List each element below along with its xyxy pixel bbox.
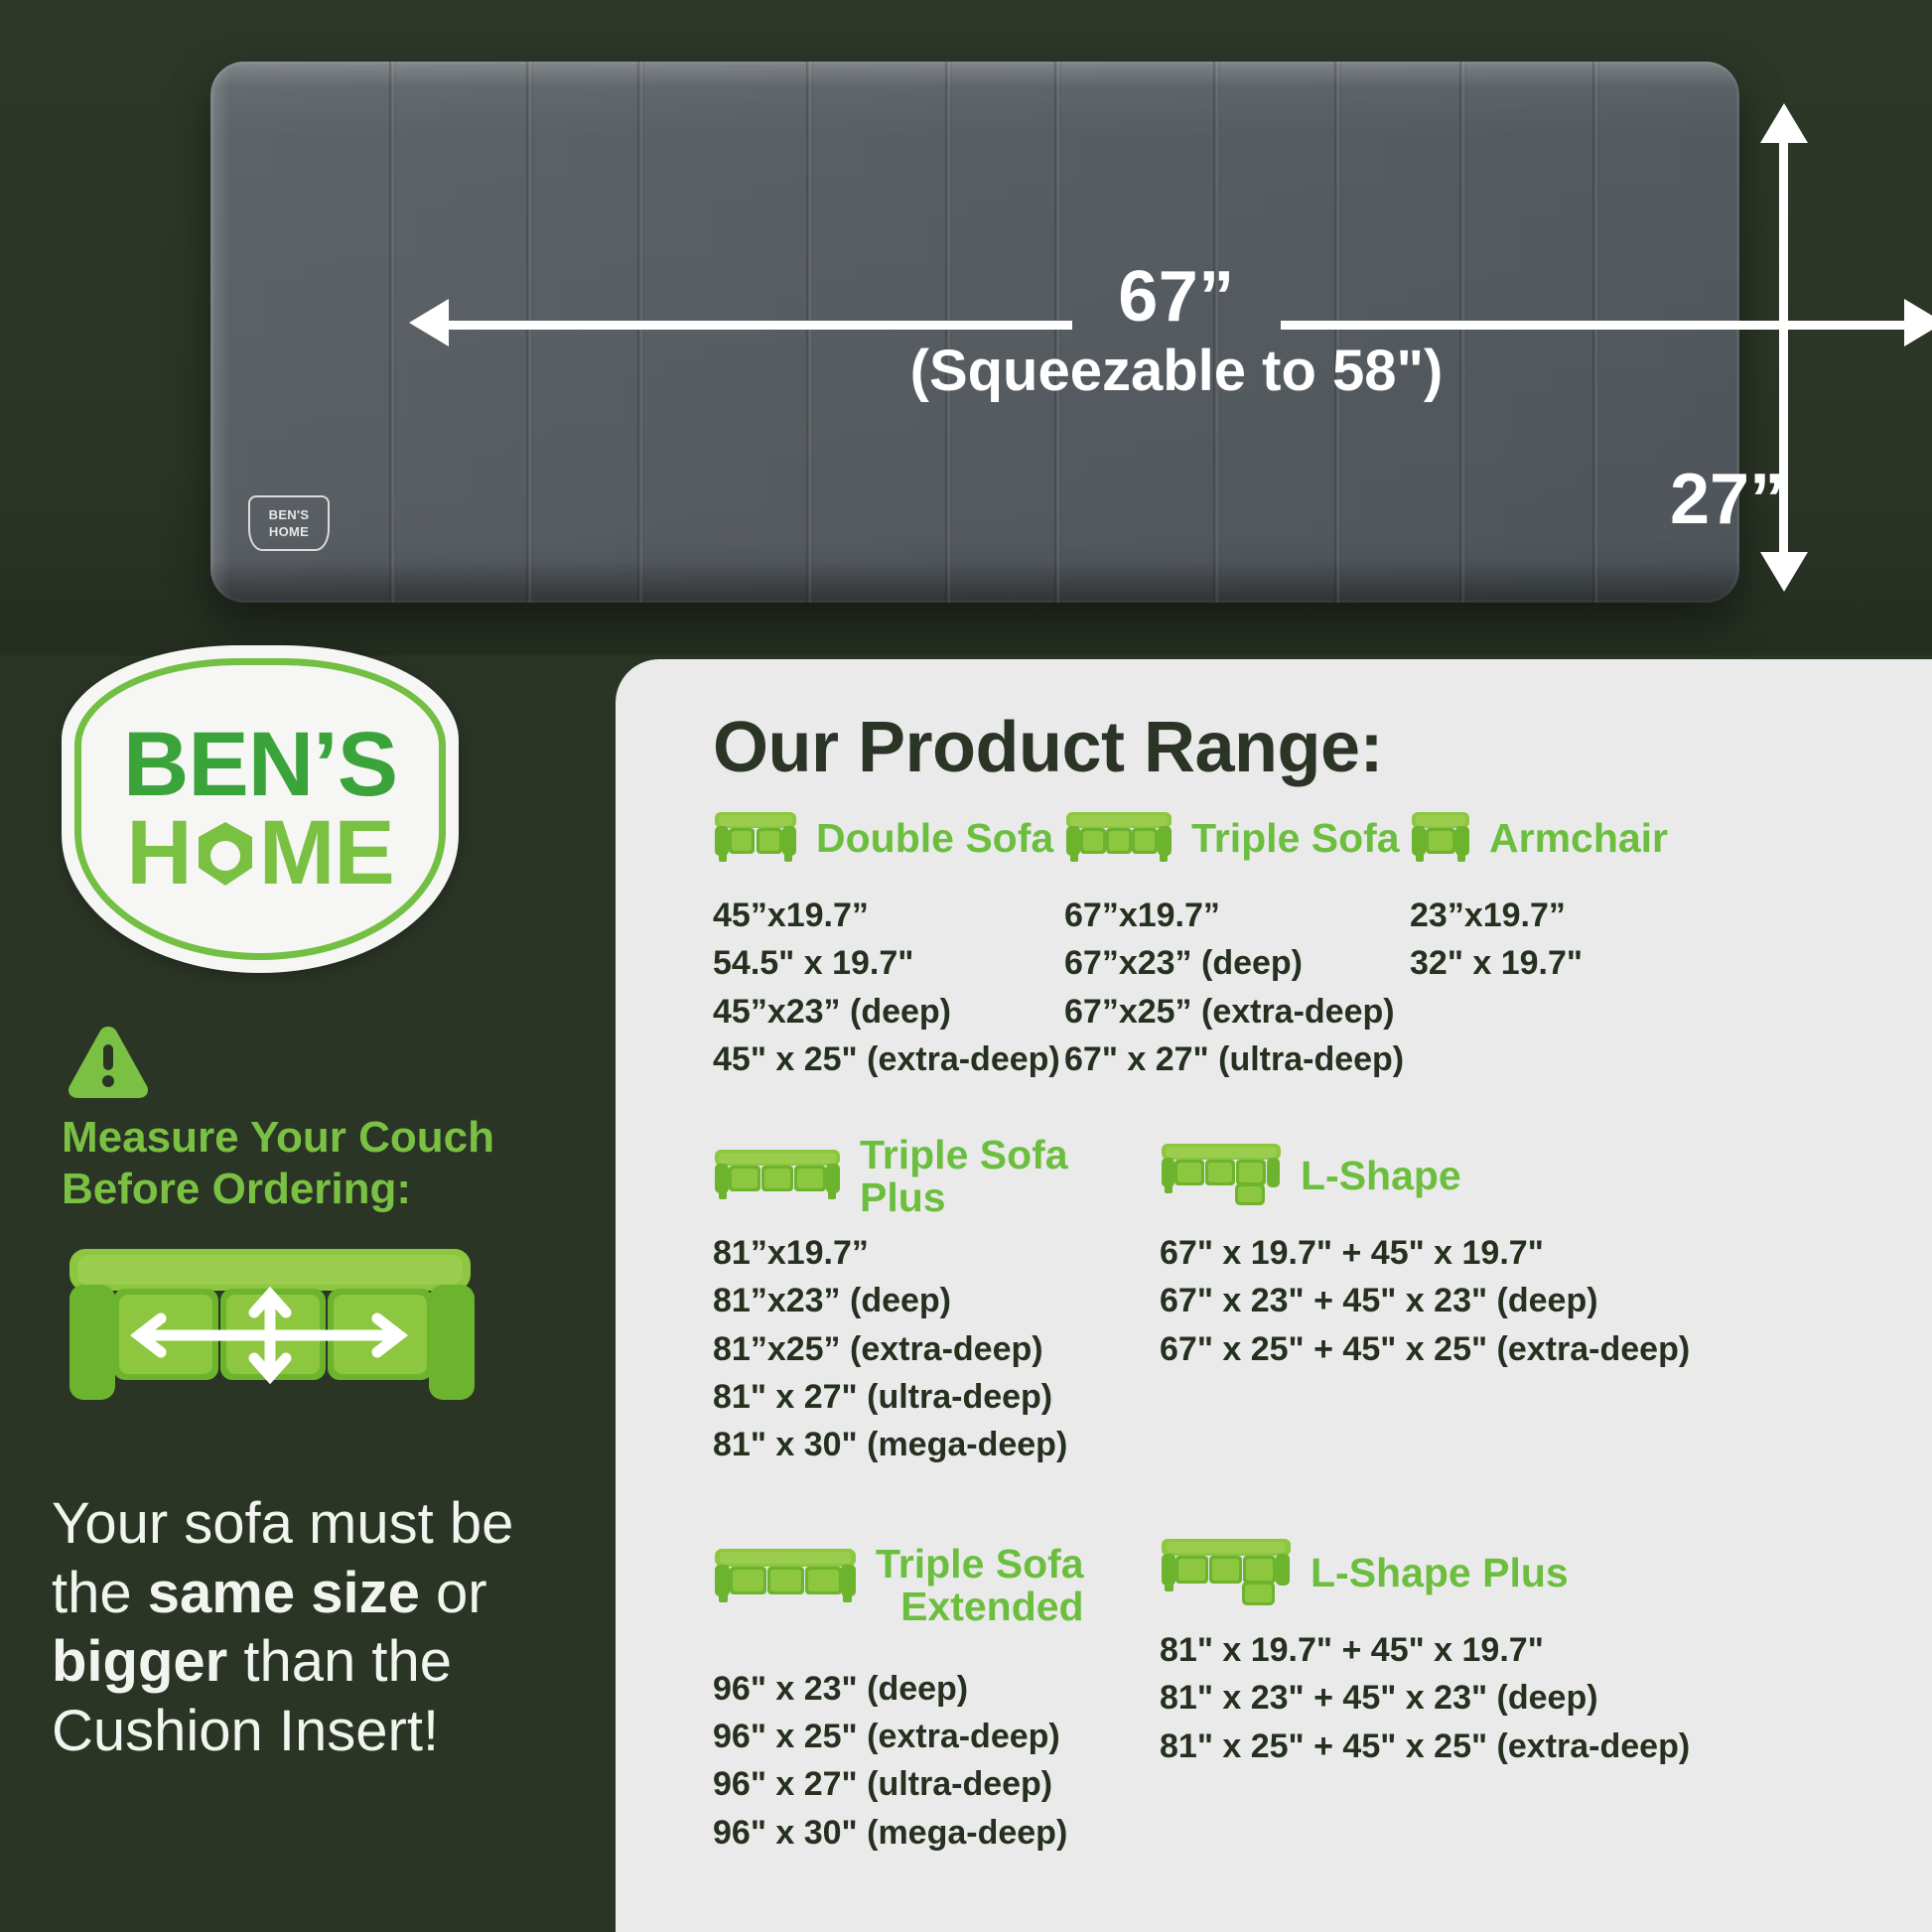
- product-triple-sofa-plus[interactable]: Triple Sofa Plus 81”x19.7” 81”x23” (deep…: [713, 1146, 1130, 1468]
- hero-section: BEN'S HOME 67” (Squeezable to 58") 27”: [0, 0, 1932, 655]
- width-dimension-arrow: 67” (Squeezable to 58"): [437, 318, 1916, 328]
- product-name: Triple Sofa Extended: [876, 1543, 1084, 1629]
- armchair-icon: [1410, 810, 1471, 869]
- logo-text-home: H ME: [126, 810, 393, 897]
- dimension-line: 81”x23” (deep): [713, 1277, 1130, 1324]
- product-dimensions: 45”x19.7” 54.5" x 19.7" 45”x23” (deep) 4…: [713, 892, 1070, 1083]
- requirement-part2: or: [420, 1561, 487, 1625]
- product-l-shape-plus[interactable]: L-Shape Plus 81" x 19.7" + 45" x 19.7" 8…: [1160, 1543, 1855, 1770]
- cushion-brand-badge: BEN'S HOME: [248, 495, 330, 551]
- dimension-line: 67" x 27" (ultra-deep): [1064, 1035, 1451, 1083]
- l-shape-icon: [1160, 1142, 1283, 1212]
- product-dimensions: 81" x 19.7" + 45" x 19.7" 81" x 23" + 45…: [1160, 1626, 1855, 1770]
- product-header: Triple Sofa Extended: [713, 1543, 1130, 1629]
- dimension-line: 81”x25” (extra-deep): [713, 1325, 1130, 1373]
- cushion-left-edge: [210, 62, 230, 603]
- product-dimensions: 23”x19.7” 32" x 19.7": [1410, 892, 1737, 988]
- product-dimensions: 96" x 23" (deep) 96" x 25" (extra-deep) …: [713, 1665, 1130, 1857]
- squeezable-label: (Squeezable to 58"): [437, 338, 1916, 404]
- l-shape-plus-icon: [1160, 1537, 1293, 1611]
- cushion-bottom-edge: [210, 561, 1739, 603]
- dimension-line: 81" x 25" + 45" x 25" (extra-deep): [1160, 1723, 1855, 1770]
- product-header: L-Shape: [1160, 1146, 1855, 1207]
- product-name: Double Sofa: [816, 817, 1053, 860]
- dimension-line: 23”x19.7”: [1410, 892, 1737, 939]
- requirement-bold2: bigger: [52, 1629, 227, 1694]
- logo-text-bens: BEN’S: [123, 722, 397, 808]
- dimension-line: 81" x 23" + 45" x 23" (deep): [1160, 1674, 1855, 1722]
- product-header: Triple Sofa: [1064, 808, 1451, 870]
- triple-sofa-extended-icon: [713, 1547, 858, 1609]
- height-label: 27”: [1670, 459, 1785, 540]
- dimension-line: 96" x 25" (extra-deep): [713, 1713, 1130, 1760]
- warning-triangle-icon: [66, 1023, 151, 1100]
- product-dimensions: 67”x19.7” 67”x23” (deep) 67”x25” (extra-…: [1064, 892, 1451, 1083]
- width-label: 67”: [437, 256, 1916, 338]
- dimension-line: 67”x23” (deep): [1064, 939, 1451, 987]
- arrow-up-icon: [1760, 103, 1808, 143]
- product-grid: Double Sofa 45”x19.7” 54.5" x 19.7" 45”x…: [616, 808, 1932, 1900]
- product-name: Triple Sofa Plus: [860, 1134, 1130, 1220]
- size-requirement-text: Your sofa must be the same size or bigge…: [52, 1489, 608, 1765]
- product-l-shape[interactable]: L-Shape 67" x 19.7" + 45" x 19.7" 67" x …: [1160, 1146, 1855, 1373]
- left-column: BEN’S H ME: [0, 655, 616, 1932]
- dimension-line: 67”x25” (extra-deep): [1064, 988, 1451, 1035]
- product-dimensions: 81”x19.7” 81”x23” (deep) 81”x25” (extra-…: [713, 1229, 1130, 1468]
- product-double-sofa[interactable]: Double Sofa 45”x19.7” 54.5" x 19.7" 45”x…: [713, 808, 1070, 1083]
- requirement-bold1: same size: [148, 1561, 420, 1625]
- dimension-line: 45”x23” (deep): [713, 988, 1070, 1035]
- dimension-line: 54.5" x 19.7": [713, 939, 1070, 987]
- measure-sofa-diagram: [62, 1241, 479, 1420]
- product-header: Triple Sofa Plus: [713, 1146, 1130, 1207]
- arrow-down-icon: [1760, 552, 1808, 592]
- dimension-line: 96" x 23" (deep): [713, 1665, 1130, 1713]
- product-triple-sofa[interactable]: Triple Sofa 67”x19.7” 67”x23” (deep) 67”…: [1064, 808, 1451, 1083]
- product-row: Triple Sofa Extended 96" x 23" (deep) 96…: [616, 1543, 1932, 1900]
- dimension-line: 67" x 19.7" + 45" x 19.7": [1160, 1229, 1855, 1277]
- product-row: Double Sofa 45”x19.7” 54.5" x 19.7" 45”x…: [616, 808, 1932, 1146]
- cushion-seam: [389, 62, 396, 603]
- cushion-top-edge: [210, 62, 1739, 87]
- product-name: Armchair: [1489, 817, 1668, 860]
- product-name: L-Shape Plus: [1311, 1552, 1569, 1594]
- product-header: Armchair: [1410, 808, 1737, 870]
- panel-title: Our Product Range:: [713, 707, 1383, 788]
- cushion-badge-line2: HOME: [269, 524, 309, 539]
- product-header: Double Sofa: [713, 808, 1070, 870]
- triple-sofa-icon: [1064, 810, 1173, 869]
- dimension-line: 45”x19.7”: [713, 892, 1070, 939]
- logo-shield-inner: BEN’S H ME: [74, 658, 446, 960]
- product-name: L-Shape: [1301, 1155, 1461, 1197]
- dimension-line: 96" x 27" (ultra-deep): [713, 1760, 1130, 1808]
- cushion-photo: BEN'S HOME 67” (Squeezable to 58") 27”: [210, 62, 1739, 603]
- dimension-line: 81" x 27" (ultra-deep): [713, 1373, 1130, 1421]
- dimension-line: 81" x 19.7" + 45" x 19.7": [1160, 1626, 1855, 1674]
- infographic-page: BEN'S HOME 67” (Squeezable to 58") 27”: [0, 0, 1932, 1932]
- brand-logo: BEN’S H ME: [62, 645, 459, 973]
- dimension-line: 96" x 30" (mega-deep): [713, 1809, 1130, 1857]
- product-range-panel: Our Product Range:: [616, 659, 1932, 1932]
- measure-warning-line1: Measure Your Couch: [62, 1112, 578, 1164]
- double-sofa-icon: [713, 810, 798, 869]
- product-header: L-Shape Plus: [1160, 1543, 1855, 1604]
- hexagon-house-icon: [195, 820, 256, 888]
- dimension-line: 32" x 19.7": [1410, 939, 1737, 987]
- triple-sofa-plus-icon: [713, 1148, 842, 1206]
- product-triple-sofa-extended[interactable]: Triple Sofa Extended 96" x 23" (deep) 96…: [713, 1543, 1130, 1857]
- logo-home-me: ME: [259, 810, 394, 897]
- product-dimensions: 67" x 19.7" + 45" x 19.7" 67" x 23" + 45…: [1160, 1229, 1855, 1373]
- dimension-line: 67”x19.7”: [1064, 892, 1451, 939]
- measure-warning-line2: Before Ordering:: [62, 1164, 578, 1215]
- dimension-line: 81”x19.7”: [713, 1229, 1130, 1277]
- measure-warning-title: Measure Your Couch Before Ordering:: [62, 1112, 578, 1215]
- dimension-line: 45" x 25" (extra-deep): [713, 1035, 1070, 1083]
- logo-home-h: H: [126, 810, 191, 897]
- dimension-line: 67" x 23" + 45" x 23" (deep): [1160, 1277, 1855, 1324]
- product-armchair[interactable]: Armchair 23”x19.7” 32" x 19.7": [1410, 808, 1737, 988]
- dimension-line: 81" x 30" (mega-deep): [713, 1421, 1130, 1468]
- cushion-badge-line1: BEN'S: [269, 507, 310, 522]
- product-name: Triple Sofa: [1191, 817, 1400, 860]
- dimension-line: 67" x 25" + 45" x 25" (extra-deep): [1160, 1325, 1855, 1373]
- product-row: Triple Sofa Plus 81”x19.7” 81”x23” (deep…: [616, 1146, 1932, 1543]
